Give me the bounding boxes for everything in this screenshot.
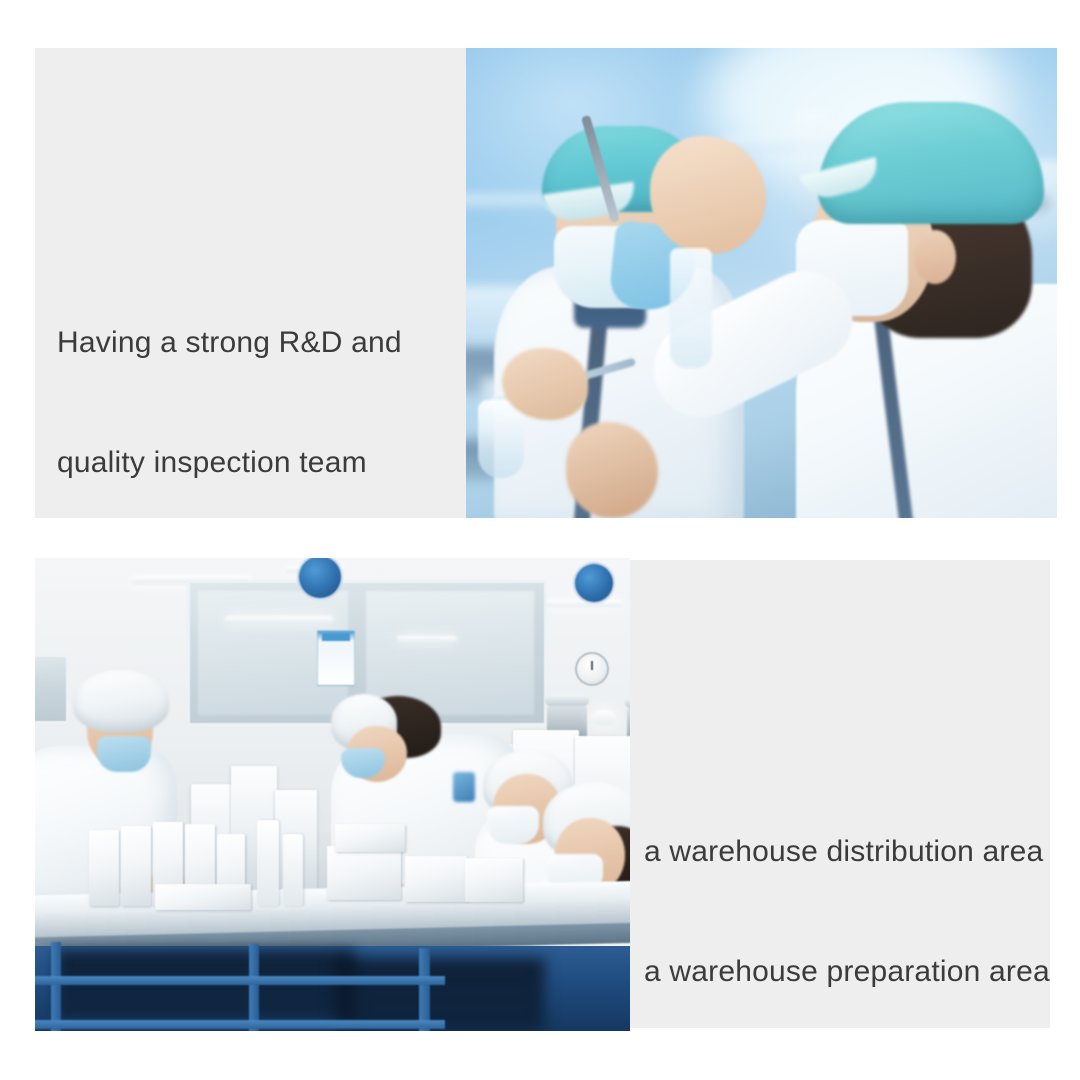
- lab-sample-vial: [670, 248, 712, 368]
- table-leg-3: [419, 948, 430, 1031]
- table-box-1: [89, 830, 119, 906]
- rd-caption-line-1: Having a strong R&D and: [57, 323, 457, 363]
- warehouse-worker-1-mask: [97, 736, 151, 772]
- warehouse-worker-1-hairnet: [73, 670, 169, 732]
- table-flat-box-5: [465, 858, 523, 902]
- table-rail-2: [35, 1020, 445, 1029]
- table-flat-box-1: [327, 846, 401, 900]
- blue-wall-sign-2: [573, 562, 615, 604]
- side-window: [35, 654, 69, 724]
- table-flat-box-2: [335, 824, 405, 852]
- warehouse-caption: a warehouse distribution area a warehous…: [644, 752, 1054, 1072]
- rd-caption: Having a strong R&D and quality inspecti…: [57, 243, 457, 563]
- warehouse-worker-3-mask: [487, 806, 539, 844]
- table-tube-2: [283, 834, 303, 906]
- small-bowl: [591, 710, 617, 726]
- table-flat-box-3: [405, 856, 467, 902]
- wall-poster-1-header: [322, 633, 350, 641]
- wall-clock: [575, 652, 609, 686]
- table-flat-box-4: [155, 884, 251, 910]
- lab-hand-lower-right: [566, 422, 658, 518]
- image-canvas: Having a strong R&D and quality inspecti…: [0, 0, 1080, 1080]
- lab-worker-b-ear: [914, 230, 956, 284]
- warehouse-worker-2-badge: [453, 772, 475, 802]
- lab-inspection-photo: [466, 48, 1057, 518]
- warehouse-caption-line-2: a warehouse preparation area: [644, 952, 1054, 992]
- warehouse-caption-line-1: a warehouse distribution area: [644, 832, 1054, 872]
- under-table-shadow-left: [55, 950, 355, 1020]
- table-box-2: [121, 826, 151, 906]
- table-leg-2: [249, 944, 259, 1031]
- window-light-reflection-2: [397, 636, 457, 642]
- table-rail-1: [35, 976, 445, 985]
- table-leg-1: [51, 942, 61, 1031]
- table-tube-1: [257, 820, 279, 906]
- rd-caption-line-2: quality inspection team: [57, 443, 457, 483]
- lab-flask: [478, 400, 524, 478]
- window-light-reflection: [225, 616, 333, 623]
- warehouse-packing-photo: [35, 558, 630, 1031]
